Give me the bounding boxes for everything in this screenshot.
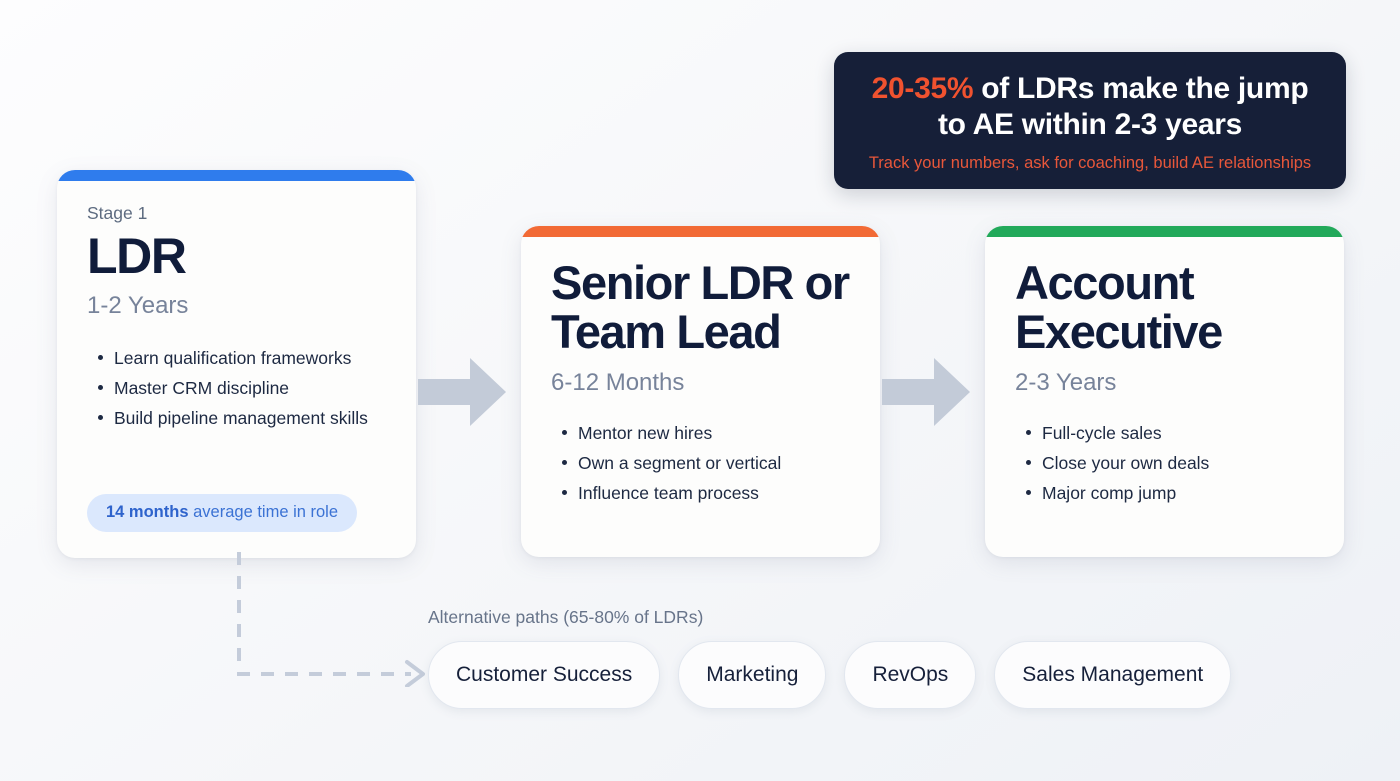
callout-banner: 20-35% of LDRs make the jump to AE withi… bbox=[834, 52, 1346, 189]
list-item: Full-cycle sales bbox=[1042, 418, 1314, 448]
list-item: Build pipeline management skills bbox=[114, 403, 386, 433]
list-item: Major comp jump bbox=[1042, 478, 1314, 508]
alternative-paths-label: Alternative paths (65-80% of LDRs) bbox=[428, 607, 703, 628]
alternative-paths-row: Customer Success Marketing RevOps Sales … bbox=[428, 641, 1231, 709]
card-bullet-list: Learn qualification frameworks Master CR… bbox=[87, 343, 386, 433]
callout-highlight: 20-35% bbox=[872, 72, 974, 105]
card-title: Senior LDR or Team Lead bbox=[551, 259, 850, 357]
arrow-right-icon bbox=[882, 358, 970, 431]
alt-path-pill-customer-success[interactable]: Customer Success bbox=[428, 641, 660, 709]
card-accent-bar bbox=[57, 170, 416, 181]
card-duration: 6-12 Months bbox=[551, 369, 850, 398]
stage-card-ldr[interactable]: Stage 1 LDR 1-2 Years Learn qualificatio… bbox=[57, 170, 416, 558]
card-body: Senior LDR or Team Lead 6-12 Months Ment… bbox=[521, 237, 880, 557]
metric-badge: 14 months average time in role bbox=[87, 494, 357, 532]
card-accent-bar bbox=[985, 226, 1344, 237]
card-body: Account Executive 2-3 Years Full-cycle s… bbox=[985, 237, 1344, 557]
list-item: Own a segment or vertical bbox=[578, 448, 850, 478]
alt-path-pill-revops[interactable]: RevOps bbox=[844, 641, 976, 709]
callout-subtitle: Track your numbers, ask for coaching, bu… bbox=[856, 153, 1324, 174]
stage-card-account-executive[interactable]: Account Executive 2-3 Years Full-cycle s… bbox=[985, 226, 1344, 557]
arrow-right-icon bbox=[418, 358, 506, 431]
metric-text: average time in role bbox=[189, 503, 339, 521]
card-duration: 2-3 Years bbox=[1015, 369, 1314, 398]
card-accent-bar bbox=[521, 226, 880, 237]
stage-label: Stage 1 bbox=[87, 203, 386, 224]
card-bullet-list: Mentor new hires Own a segment or vertic… bbox=[551, 418, 850, 508]
diagram-canvas: 20-35% of LDRs make the jump to AE withi… bbox=[0, 0, 1400, 781]
list-item: Learn qualification frameworks bbox=[114, 343, 386, 373]
metric-value: 14 months bbox=[106, 503, 189, 521]
card-bullet-list: Full-cycle sales Close your own deals Ma… bbox=[1015, 418, 1314, 508]
list-item: Close your own deals bbox=[1042, 448, 1314, 478]
list-item: Mentor new hires bbox=[578, 418, 850, 448]
card-title: Account Executive bbox=[1015, 259, 1314, 357]
callout-headline-rest: of LDRs make the jump to AE within 2-3 y… bbox=[938, 72, 1308, 140]
list-item: Influence team process bbox=[578, 478, 850, 508]
stage-card-senior-ldr[interactable]: Senior LDR or Team Lead 6-12 Months Ment… bbox=[521, 226, 880, 557]
alt-path-pill-sales-management[interactable]: Sales Management bbox=[994, 641, 1231, 709]
card-title: LDR bbox=[87, 230, 386, 282]
card-duration: 1-2 Years bbox=[87, 292, 386, 321]
alt-path-pill-marketing[interactable]: Marketing bbox=[678, 641, 826, 709]
callout-headline: 20-35% of LDRs make the jump to AE withi… bbox=[856, 71, 1324, 142]
list-item: Master CRM discipline bbox=[114, 373, 386, 403]
card-body: Stage 1 LDR 1-2 Years Learn qualificatio… bbox=[57, 181, 416, 558]
dashed-connector-icon bbox=[225, 552, 435, 692]
